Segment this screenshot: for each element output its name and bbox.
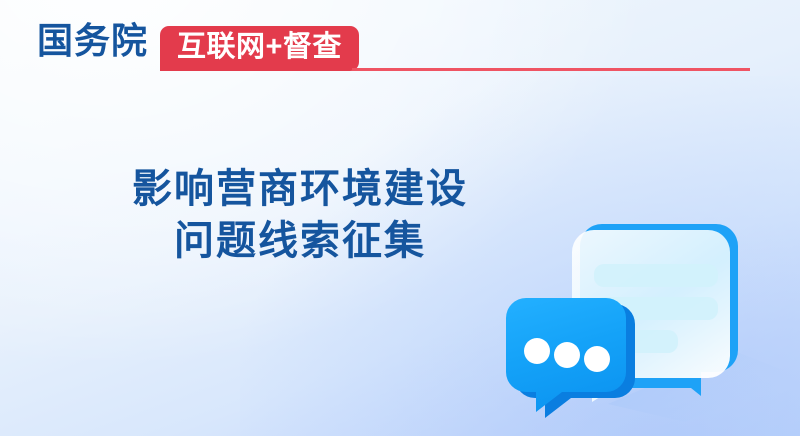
header-divider-rule [352, 68, 750, 71]
chat-bubbles-illustration [480, 208, 800, 436]
banner-header: 国务院 互联网+督查 [0, 0, 800, 80]
banner-root: 国务院 互联网+督查 影响营商环境建设 问题线索征集 [0, 0, 800, 436]
internet-plus-supervision-badge: 互联网+督查 [160, 26, 359, 71]
badge-label: 互联网+督查 [177, 33, 342, 62]
small-chat-bubble [506, 298, 635, 418]
chat-bubbles-svg [480, 208, 800, 436]
gov-logo: 国务院 [37, 23, 148, 59]
